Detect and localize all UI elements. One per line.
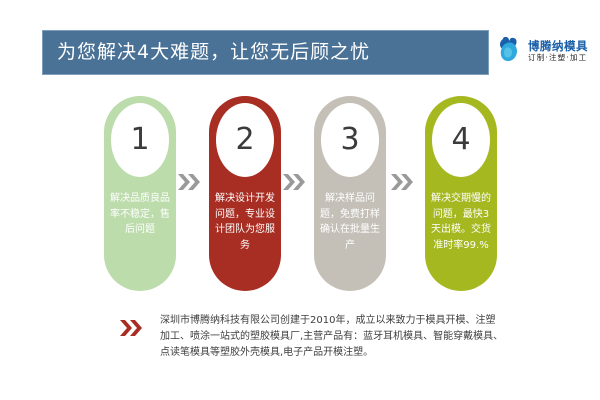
double-chevron-right-icon [389, 172, 417, 192]
company-intro-line: 深圳市博腾纳科技有限公司创建于2010年，成立以来致力于模具开模、注塑 [160, 313, 505, 329]
step-number-disc-3: 3 [321, 103, 379, 177]
step-description-3: 解决样品问题，免费打样确认在批量生产 [319, 191, 381, 253]
step-number-disc-1: 1 [111, 103, 169, 177]
logo-tagline: 订制·注塑·加工 [528, 54, 588, 62]
double-chevron-right-icon [176, 172, 204, 192]
company-intro-section: 深圳市博腾纳科技有限公司创建于2010年，成立以来致力于模具开模、注塑 加工、喷… [0, 310, 600, 380]
header-bar: 为您解决4大难题，让您无后顾之忧 [42, 30, 489, 75]
step-number-2: 2 [235, 125, 254, 155]
step-capsule-2[interactable]: 2 解决设计开发问题，专业设计团队为您服务 [209, 96, 281, 291]
droplet-logo-icon [498, 36, 524, 66]
company-intro-line: 加工、喷涂一站式的塑胶模具厂,主营产品有：蓝牙耳机模具、智能穿戴模具、 [160, 329, 505, 345]
step-capsule-1[interactable]: 1 解决品质良品率不稳定，售后问题 [104, 96, 176, 291]
logo-text-block: 博腾纳模具 订制·注塑·加工 [528, 40, 588, 62]
steps-container: 1 解决品质良品率不稳定，售后问题 2 解决设计开发问题，专业设计团队为您服务 … [0, 96, 600, 296]
step-description-1: 解决品质良品率不稳定，售后问题 [109, 191, 171, 238]
company-intro-line: 点读笔模具等塑胶外壳模具,电子产品开模注塑。 [160, 345, 505, 361]
company-intro-text: 深圳市博腾纳科技有限公司创建于2010年，成立以来致力于模具开模、注塑 加工、喷… [160, 313, 505, 361]
step-capsule-3[interactable]: 3 解决样品问题，免费打样确认在批量生产 [314, 96, 386, 291]
double-chevron-right-icon [281, 172, 309, 192]
step-number-disc-4: 4 [432, 103, 490, 177]
step-number-disc-2: 2 [216, 103, 274, 177]
step-number-1: 1 [130, 125, 149, 155]
double-chevron-right-icon [118, 318, 146, 338]
logo-company-name: 博腾纳模具 [528, 40, 588, 52]
step-capsule-4[interactable]: 4 解决交期慢的问题，最快3天出模。交货准时率99.% [425, 96, 497, 291]
step-description-4: 解决交期慢的问题，最快3天出模。交货准时率99.% [430, 191, 492, 253]
step-number-4: 4 [451, 125, 470, 155]
step-number-3: 3 [340, 125, 359, 155]
brand-logo[interactable]: 博腾纳模具 订制·注塑·加工 [498, 28, 598, 74]
step-description-2: 解决设计开发问题，专业设计团队为您服务 [214, 191, 276, 253]
page-title: 为您解决4大难题，让您无后顾之忧 [43, 43, 370, 62]
